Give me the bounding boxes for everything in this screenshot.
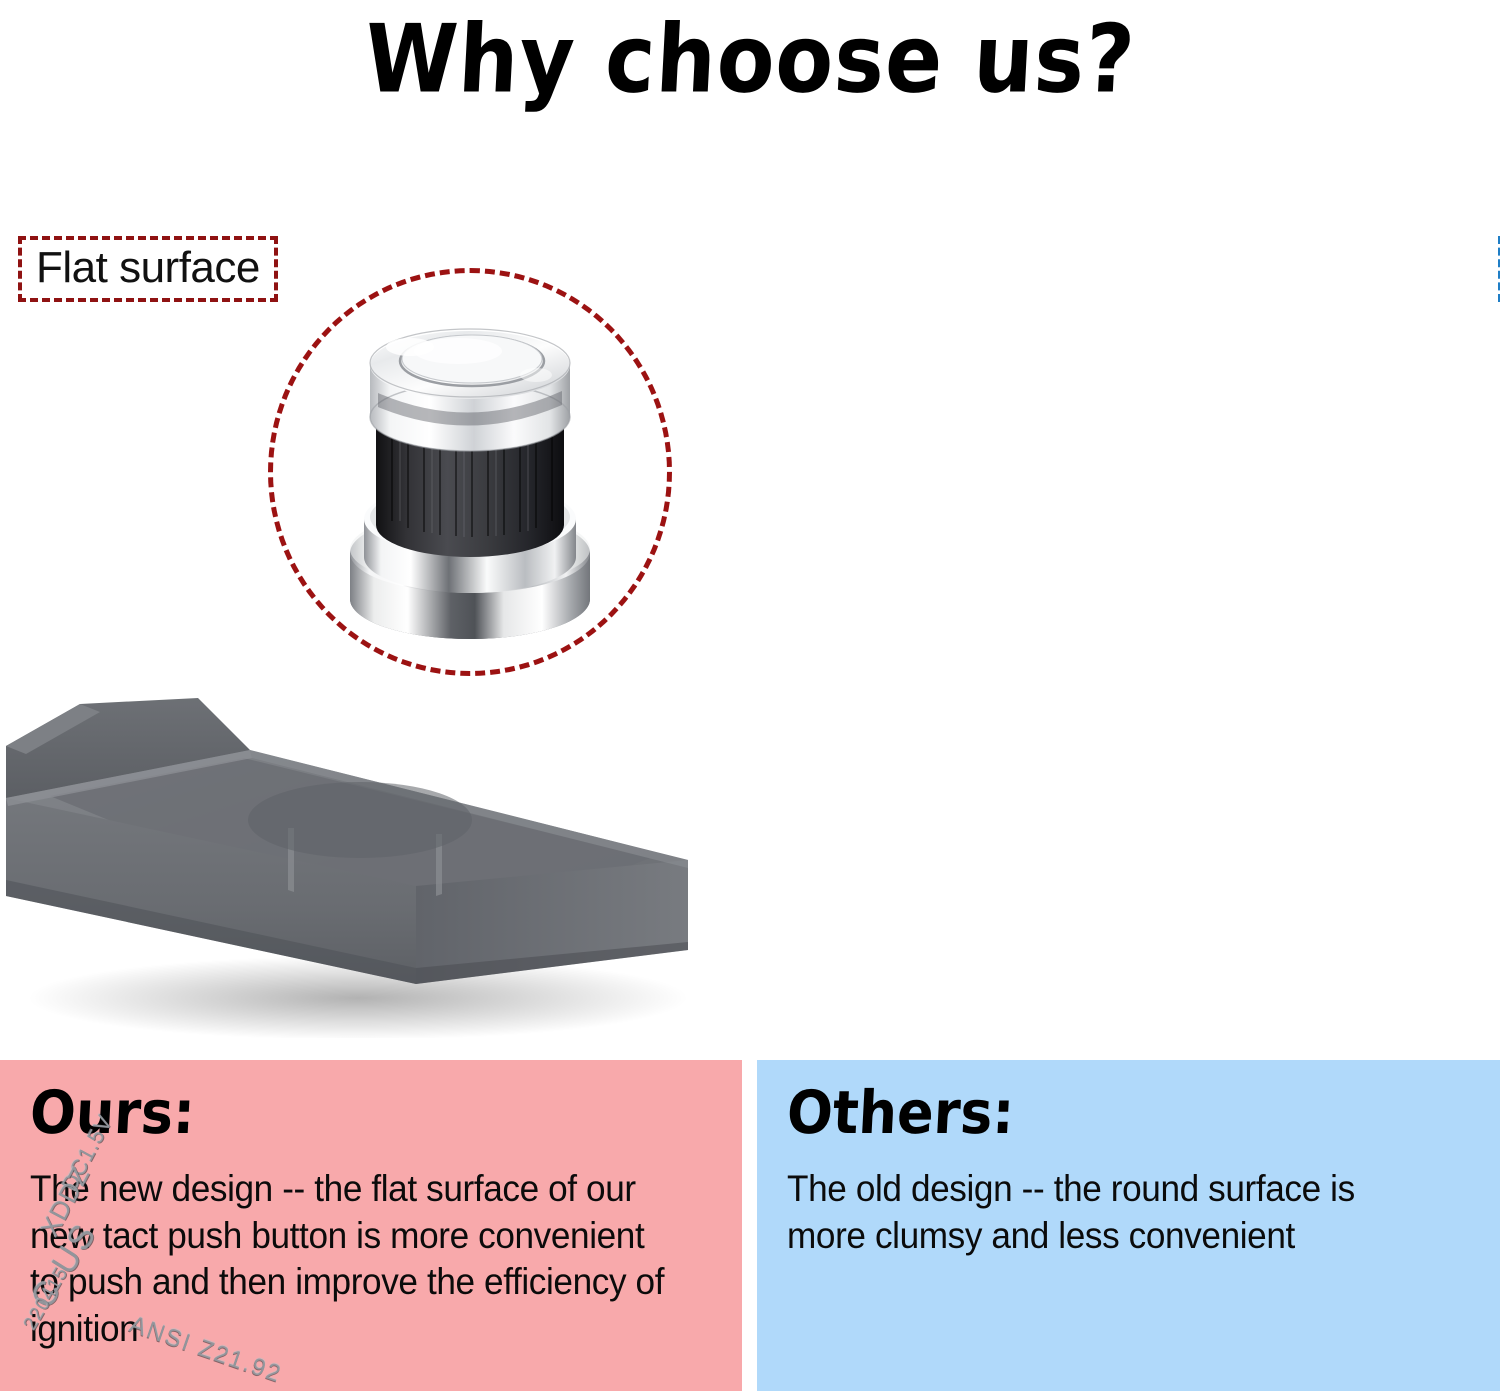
panel-others: Others: The old design -- the round surf…: [757, 1060, 1500, 1391]
comparison-text-panels: Ours: The new design -- the flat surface…: [0, 1056, 1500, 1391]
panel-ours-heading: Ours:: [28, 1083, 713, 1142]
page-header: Why choose us?: [0, 0, 1500, 118]
product-photo-round-surface: Round surface: [750, 118, 1500, 1056]
panel-others-body: The old design -- the round surface is m…: [787, 1166, 1436, 1259]
push-button-chrome-flat-top: [330, 281, 610, 681]
panel-ours-body: The new design -- the flat surface of ou…: [30, 1166, 678, 1352]
callout-flat-surface: Flat surface: [18, 236, 278, 302]
panel-ours: Ours: The new design -- the flat surface…: [0, 1060, 742, 1391]
panel-others-heading: Others:: [785, 1083, 1471, 1142]
product-photo-flat-surface: DC1.5V XDDZ C US 220415 ANSI Z21.92: [0, 118, 750, 1056]
product-comparison-stage: DC1.5V XDDZ C US 220415 ANSI Z21.92: [0, 118, 1500, 1056]
push-button-chrome-svg: [330, 281, 610, 681]
callout-flat-surface-label: Flat surface: [36, 243, 260, 292]
page-title: Why choose us?: [362, 4, 1138, 114]
